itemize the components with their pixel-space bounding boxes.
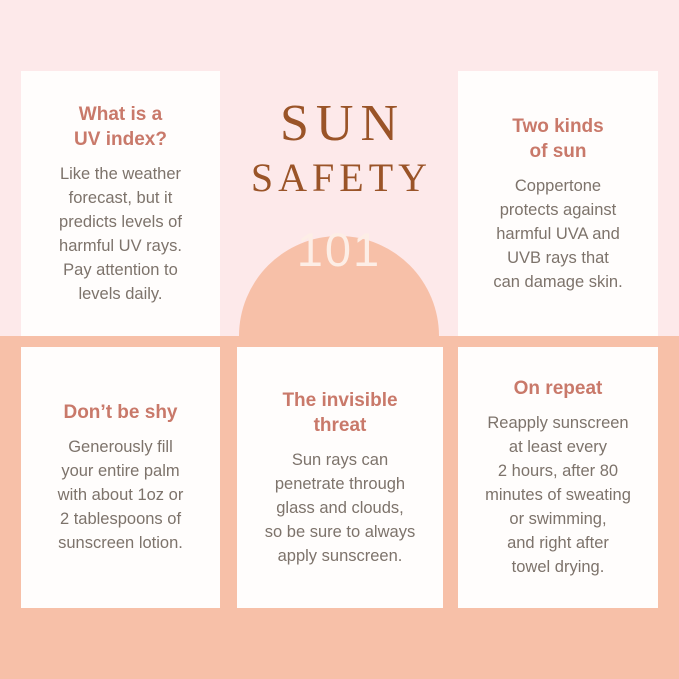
sun-safety-infographic: SUN SAFETY 101 What is aUV index? Like t… bbox=[0, 0, 679, 679]
card-invisible-threat: The invisiblethreat Sun rays canpenetrat… bbox=[237, 347, 443, 608]
card-body: Coppertoneprotects againstharmful UVA an… bbox=[493, 174, 622, 294]
card-heading: What is aUV index? bbox=[74, 102, 167, 152]
card-heading: On repeat bbox=[514, 376, 603, 401]
card-body: Like the weatherforecast, but itpredicts… bbox=[59, 162, 182, 306]
title-sun: SUN bbox=[228, 96, 450, 152]
card-dont-be-shy: Don’t be shy Generously fillyour entire … bbox=[21, 347, 220, 608]
card-body: Generously fillyour entire palmwith abou… bbox=[58, 435, 184, 555]
card-heading: The invisiblethreat bbox=[282, 388, 397, 438]
card-heading: Don’t be shy bbox=[63, 400, 177, 425]
card-body: Reapply sunscreenat least every2 hours, … bbox=[485, 411, 631, 579]
title-badge-101: 101 bbox=[228, 224, 450, 276]
card-uv-index: What is aUV index? Like the weatherforec… bbox=[21, 71, 220, 336]
card-body: Sun rays canpenetrate throughglass and c… bbox=[265, 448, 415, 568]
title-safety: SAFETY bbox=[228, 154, 450, 202]
poster-title-block: SUN SAFETY 101 bbox=[228, 96, 450, 276]
card-on-repeat: On repeat Reapply sunscreenat least ever… bbox=[458, 347, 658, 608]
card-heading: Two kindsof sun bbox=[512, 114, 603, 164]
card-two-kinds-of-sun: Two kindsof sun Coppertoneprotects again… bbox=[458, 71, 658, 336]
